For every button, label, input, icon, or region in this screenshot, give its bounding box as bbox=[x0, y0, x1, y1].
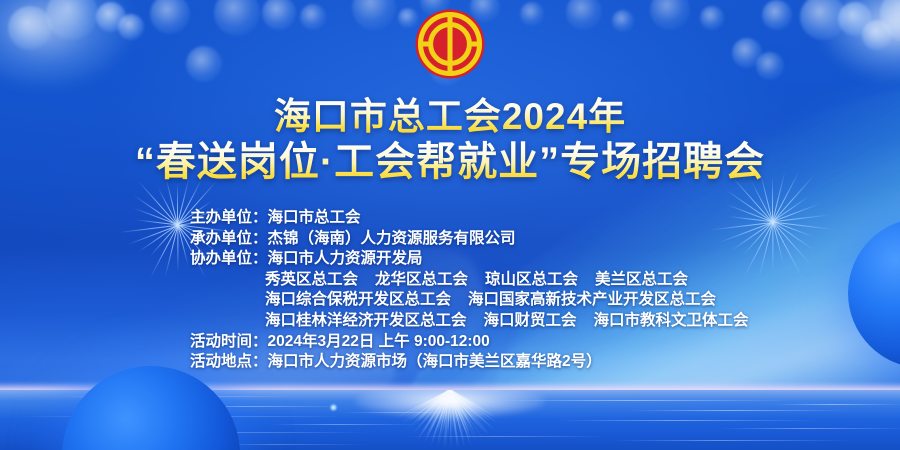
location-value: 海口市人力资源市场（海口市美兰区嘉华路2号） bbox=[268, 352, 602, 373]
coorganizer-label: 协办单位： bbox=[190, 249, 268, 270]
time-label: 活动时间： bbox=[190, 332, 268, 353]
title-line-2: “春送岗位·工会帮就业”专场招聘会 bbox=[0, 140, 900, 185]
poster-info-block: 主办单位： 海口市总工会 承办单位： 杰锦（海南）人力资源服务有限公司 协办单位… bbox=[0, 208, 900, 373]
info-row-coorganizer-extra-1: 秀英区总工会龙华区总工会琼山区总工会美兰区总工会 bbox=[0, 270, 900, 291]
recruitment-poster: 海口市总工会2024年 “春送岗位·工会帮就业”专场招聘会 主办单位： 海口市总… bbox=[0, 0, 900, 450]
location-label: 活动地点： bbox=[190, 352, 268, 373]
info-row-location: 活动地点： 海口市人力资源市场（海口市美兰区嘉华路2号） bbox=[0, 352, 900, 373]
coorganizer-value: 海口市人力资源开发局 bbox=[268, 249, 423, 270]
time-value: 2024年3月22日 上午 9:00-12:00 bbox=[268, 332, 490, 353]
info-row-coorganizer-extra-3: 海口桂林洋经济开发区总工会海口财贸工会海口市教科文卫体工会 bbox=[0, 311, 900, 332]
organizer-label: 主办单位： bbox=[190, 208, 268, 229]
undertaker-label: 承办单位： bbox=[190, 229, 268, 250]
organizer-value: 海口市总工会 bbox=[268, 208, 361, 229]
coorganizer-extra-line-3: 海口桂林洋经济开发区总工会海口财贸工会海口市教科文卫体工会 bbox=[265, 311, 749, 332]
coorganizer-extra-line-2: 海口综合保税开发区总工会海口国家高新技术产业开发区总工会 bbox=[265, 290, 716, 311]
poster-titles: 海口市总工会2024年 “春送岗位·工会帮就业”专场招聘会 bbox=[0, 96, 900, 185]
acftu-emblem-icon bbox=[414, 8, 486, 80]
coorganizer-extra-line-1: 秀英区总工会龙华区总工会琼山区总工会美兰区总工会 bbox=[265, 270, 688, 291]
info-row-undertaker: 承办单位： 杰锦（海南）人力资源服务有限公司 bbox=[0, 229, 900, 250]
title-line-1: 海口市总工会2024年 bbox=[0, 96, 900, 137]
info-row-organizer: 主办单位： 海口市总工会 bbox=[0, 208, 900, 229]
info-row-time: 活动时间： 2024年3月22日 上午 9:00-12:00 bbox=[0, 332, 900, 353]
info-row-coorganizer: 协办单位： 海口市人力资源开发局 bbox=[0, 249, 900, 270]
info-row-coorganizer-extra-2: 海口综合保税开发区总工会海口国家高新技术产业开发区总工会 bbox=[0, 290, 900, 311]
undertaker-value: 杰锦（海南）人力资源服务有限公司 bbox=[268, 229, 516, 250]
